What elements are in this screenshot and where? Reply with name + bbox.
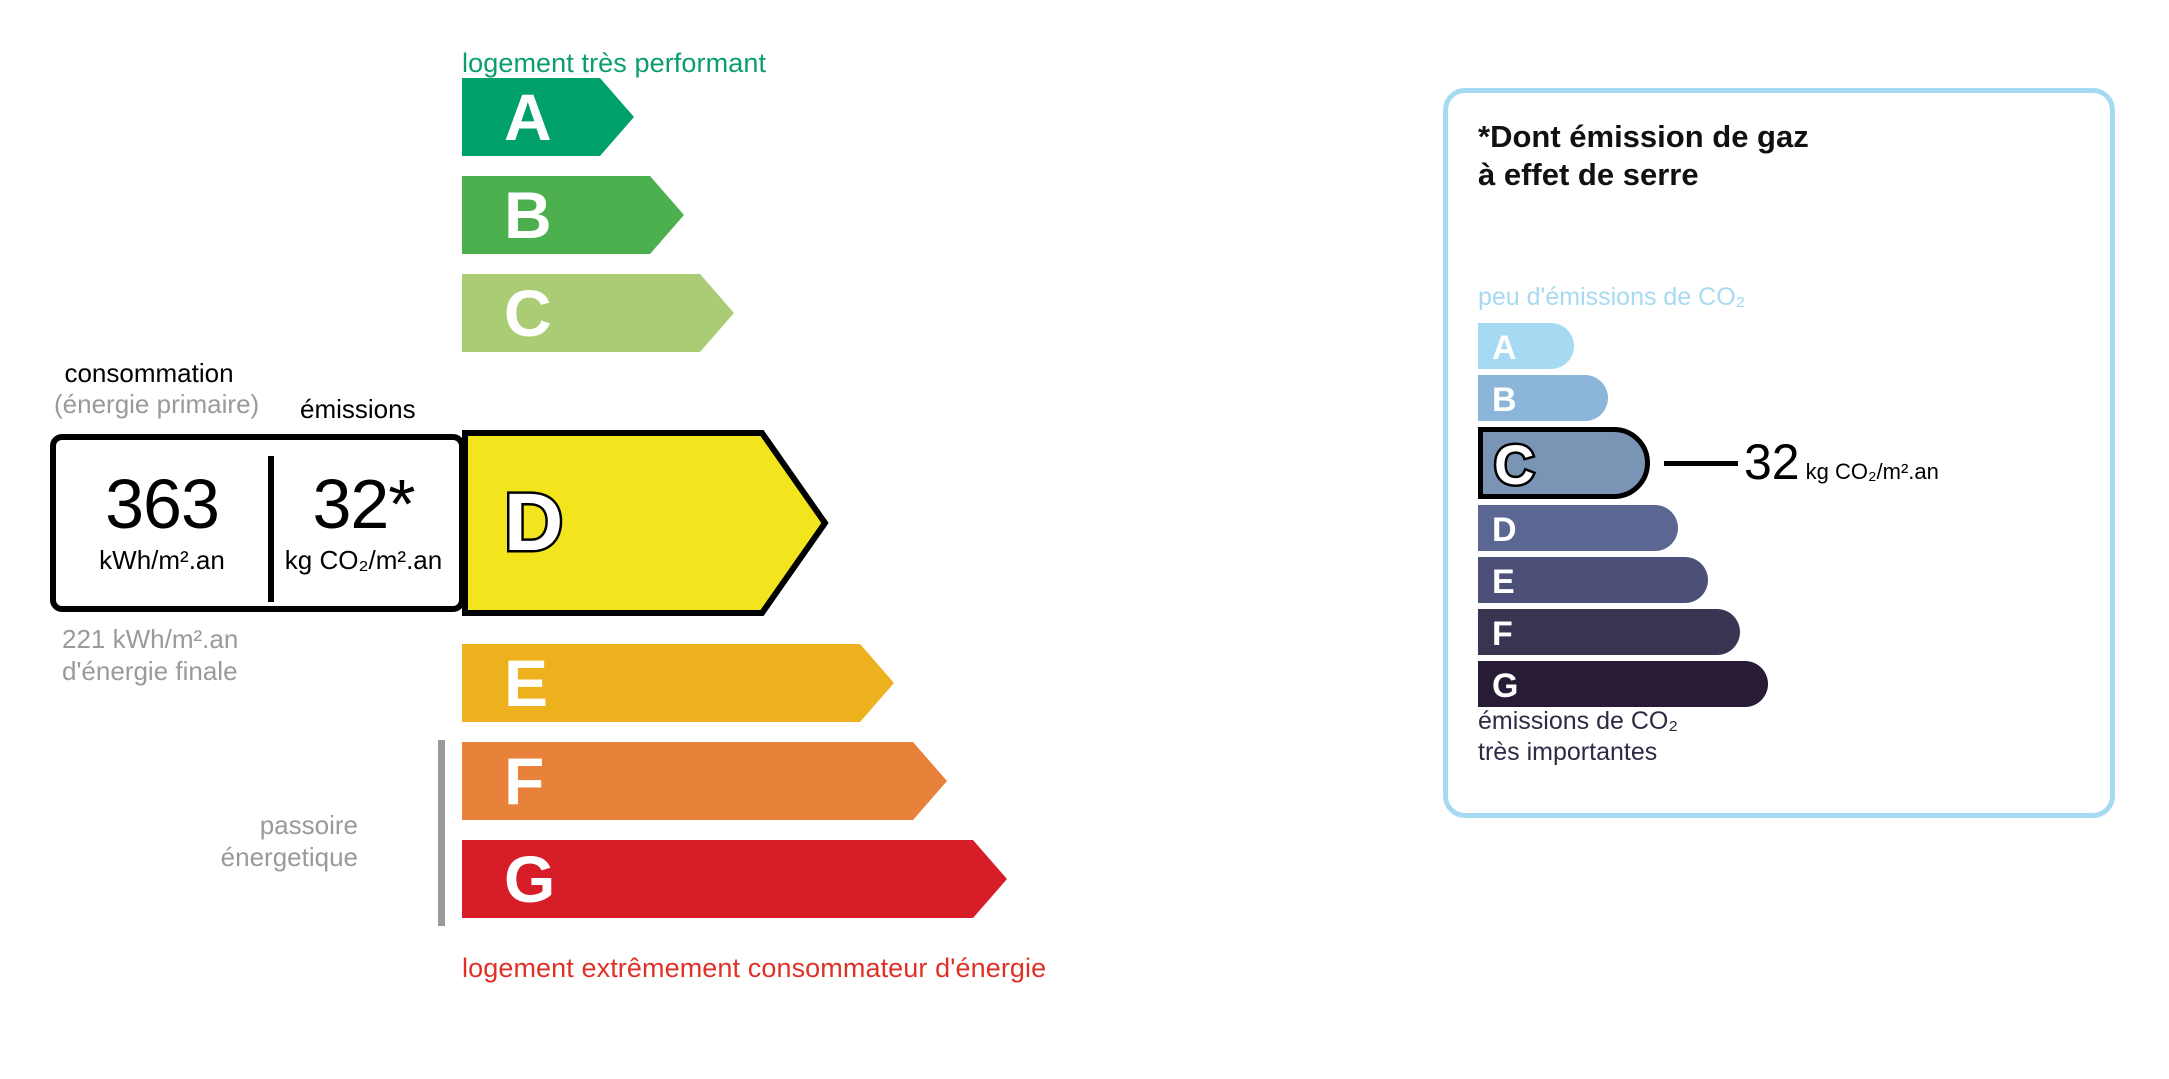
final-energy-note: 221 kWh/m².an d'énergie finale	[62, 624, 238, 687]
consumption-label: consommation (énergie primaire)	[54, 358, 244, 419]
ges-title-line2: à effet de serre	[1478, 156, 1809, 194]
passoire-line2: énergetique	[118, 842, 358, 874]
ges-bar-f-letter: F	[1492, 617, 1513, 651]
energy-band-c-letter: C	[504, 280, 552, 346]
energy-band-c: C	[462, 274, 734, 352]
energy-band-e: E	[462, 644, 894, 722]
consumption-label-sub: (énergie primaire)	[54, 389, 244, 420]
ges-panel-title: *Dont émission de gaz à effet de serre	[1478, 118, 1809, 194]
consumption-value: 363	[105, 470, 219, 539]
ges-caption-bottom: émissions de CO₂ très importantes	[1478, 706, 1678, 767]
passoire-label: passoire énergetique	[118, 810, 358, 873]
emissions-label: émissions	[300, 394, 416, 425]
ges-bar-e-letter: E	[1492, 565, 1515, 599]
final-energy-line1: 221 kWh/m².an	[62, 624, 238, 656]
ges-bar-c-letter: C	[1494, 437, 1534, 493]
consumption-cell: 363 kWh/m².an	[56, 440, 268, 606]
ges-bar-g	[1478, 661, 1768, 707]
energy-band-f-letter: F	[504, 748, 544, 814]
energy-band-g-letter: G	[504, 846, 555, 912]
ges-bar-a-letter: A	[1492, 331, 1517, 365]
emissions-unit: kg CO₂/m².an	[285, 545, 442, 576]
consumption-unit: kWh/m².an	[99, 545, 225, 576]
energy-band-a-letter: A	[504, 84, 552, 150]
energy-band-f: F	[462, 742, 947, 820]
ges-value-leader-line	[1664, 461, 1738, 466]
ges-value-callout: 32kg CO₂/m².an	[1744, 437, 1939, 487]
energy-performance-chart: logement très performant A B C	[0, 0, 1420, 1079]
value-box: 363 kWh/m².an 32* kg CO₂/m².an	[50, 434, 465, 612]
greenhouse-gas-panel: *Dont émission de gaz à effet de serre p…	[1443, 88, 2115, 818]
energy-band-e-letter: E	[504, 650, 548, 716]
energy-band-b: B	[462, 176, 684, 254]
dpe-infographic: logement très performant A B C	[0, 0, 2169, 1079]
ges-caption-bottom-line1: émissions de CO₂	[1478, 706, 1678, 737]
ges-caption-bottom-line2: très importantes	[1478, 737, 1678, 768]
energy-band-d-selected: D	[462, 430, 828, 616]
energy-band-d-letter: D	[504, 482, 563, 564]
final-energy-line2: d'énergie finale	[62, 656, 238, 688]
ges-bar-f	[1478, 609, 1740, 655]
energy-band-b-letter: B	[504, 182, 552, 248]
energy-caption-top: logement très performant	[462, 48, 766, 79]
ges-bar-b-letter: B	[1492, 383, 1517, 417]
ges-bar-g-letter: G	[1492, 669, 1518, 703]
passoire-bracket	[438, 740, 445, 926]
passoire-line1: passoire	[118, 810, 358, 842]
ges-value-unit: kg CO₂/m².an	[1806, 459, 1939, 484]
energy-band-a: A	[462, 78, 634, 156]
emissions-value: 32*	[312, 470, 414, 539]
energy-caption-bottom: logement extrêmement consommateur d'éner…	[462, 953, 1046, 984]
ges-value-number: 32	[1744, 434, 1800, 490]
consumption-label-main: consommation	[64, 358, 233, 388]
energy-band-g: G	[462, 840, 1007, 918]
ges-title-line1: *Dont émission de gaz	[1478, 118, 1809, 156]
ges-caption-top: peu d'émissions de CO₂	[1478, 283, 1745, 312]
emissions-cell: 32* kg CO₂/m².an	[268, 440, 459, 606]
ges-bar-d-letter: D	[1492, 513, 1517, 547]
